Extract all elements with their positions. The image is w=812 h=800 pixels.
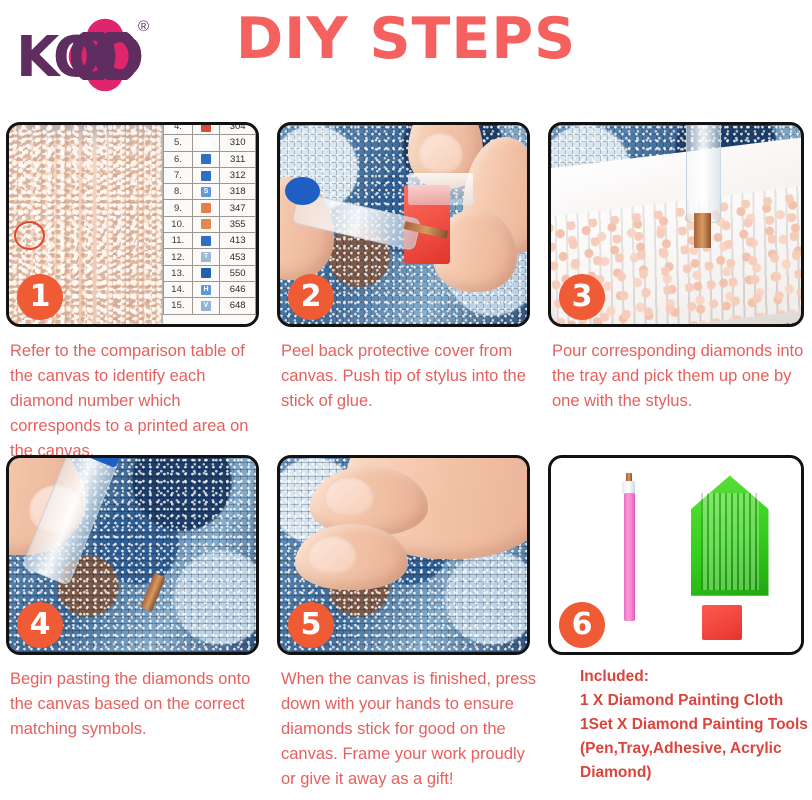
row-code: 550	[220, 265, 256, 281]
row-code: 453	[220, 249, 256, 265]
included-line-2: 1Set X Diamond Painting Tools	[580, 713, 812, 737]
row-symbol-icon	[192, 265, 220, 281]
row-code: 311	[220, 151, 256, 167]
row-symbol-icon	[192, 151, 220, 167]
row-code: 310	[220, 135, 256, 151]
row-symbol-icon: S	[192, 184, 220, 200]
table-row: 15.V648	[164, 298, 256, 314]
row-code: 347	[220, 200, 256, 216]
row-symbol-icon: T	[192, 249, 220, 265]
step-4-caption: Begin pasting the diamonds onto the canv…	[10, 667, 265, 742]
step-5-caption: When the canvas is finished, press down …	[281, 667, 539, 792]
row-symbol-icon	[192, 125, 220, 135]
row-symbol-icon	[192, 233, 220, 249]
row-number: 7.	[164, 167, 193, 183]
page-header: KOO ® DIY STEPS	[0, 0, 812, 112]
step-5-photo: 5	[277, 455, 530, 655]
step-1-caption: Refer to the comparison table of the can…	[10, 339, 265, 464]
table-row: 9.347	[164, 200, 256, 216]
adhesive-square	[702, 605, 742, 640]
row-number: 14.	[164, 281, 193, 297]
row-number: 10.	[164, 216, 193, 232]
row-code: 413	[220, 233, 256, 249]
row-number: 9.	[164, 200, 193, 216]
included-heading: Included:	[580, 665, 810, 689]
row-number: 13.	[164, 265, 193, 281]
stylus-cap	[285, 177, 320, 205]
row-symbol-icon	[192, 135, 220, 151]
step-2-caption: Peel back protective cover from canvas. …	[281, 339, 536, 414]
step-badge-2: 2	[288, 274, 334, 320]
nail-index	[324, 477, 373, 516]
page-title: DIY STEPS	[0, 6, 812, 72]
stylus-pen	[624, 493, 635, 621]
row-code: 355	[220, 216, 256, 232]
table-row: 13.550	[164, 265, 256, 281]
glue-cover	[408, 173, 472, 205]
row-code: 304	[220, 125, 256, 135]
table-row: 6.311	[164, 151, 256, 167]
row-symbol-icon	[192, 200, 220, 216]
step-badge-5: 5	[288, 602, 334, 648]
step-badge-1: 1	[17, 274, 63, 320]
row-number: 5.	[164, 135, 193, 151]
table-row: 12.T453	[164, 249, 256, 265]
table-row: 5.310	[164, 135, 256, 151]
table-row: 4.304	[164, 125, 256, 135]
row-number: 6.	[164, 151, 193, 167]
step-badge-4: 4	[17, 602, 63, 648]
step-1-photo: 4.3045.3106.3117.3128.S3189.34710.35511.…	[6, 122, 259, 327]
step-2-photo: 2	[277, 122, 530, 327]
stylus-pen	[686, 125, 721, 223]
row-number: 11.	[164, 233, 193, 249]
step-3-photo: 3	[548, 122, 804, 327]
row-symbol-icon: H	[192, 281, 220, 297]
thumb-nail	[418, 133, 462, 173]
table-row: 11.413	[164, 233, 256, 249]
row-code: 318	[220, 184, 256, 200]
row-symbol-icon	[192, 167, 220, 183]
row-number: 4.	[164, 125, 193, 135]
highlight-circle-icon	[14, 221, 45, 250]
included-line-1: 1 X Diamond Painting Cloth	[580, 689, 812, 713]
step-badge-3: 3	[559, 274, 605, 320]
row-symbol-icon: V	[192, 298, 220, 314]
step-3-caption: Pour corresponding diamonds into the tra…	[552, 339, 810, 414]
stylus-tip	[694, 213, 712, 249]
row-code: 646	[220, 281, 256, 297]
table-row: 7.312	[164, 167, 256, 183]
table-row: 14.H646	[164, 281, 256, 297]
included-line-3: (Pen,Tray,Adhesive, Acrylic Diamond)	[580, 737, 812, 785]
row-code: 648	[220, 298, 256, 314]
row-number: 15.	[164, 298, 193, 314]
step-6-photo: 6	[548, 455, 804, 655]
row-symbol-icon	[192, 216, 220, 232]
table-row: 10.355	[164, 216, 256, 232]
comparison-table: 4.3045.3106.3117.3128.S3189.34710.35511.…	[162, 125, 256, 324]
row-code: 312	[220, 167, 256, 183]
step-badge-6: 6	[559, 602, 605, 648]
row-number: 8.	[164, 184, 193, 200]
tray-grooves	[701, 493, 759, 590]
nail-middle	[307, 536, 356, 575]
row-number: 12.	[164, 249, 193, 265]
step-4-photo: 4	[6, 455, 259, 655]
table-row: 8.S318	[164, 184, 256, 200]
